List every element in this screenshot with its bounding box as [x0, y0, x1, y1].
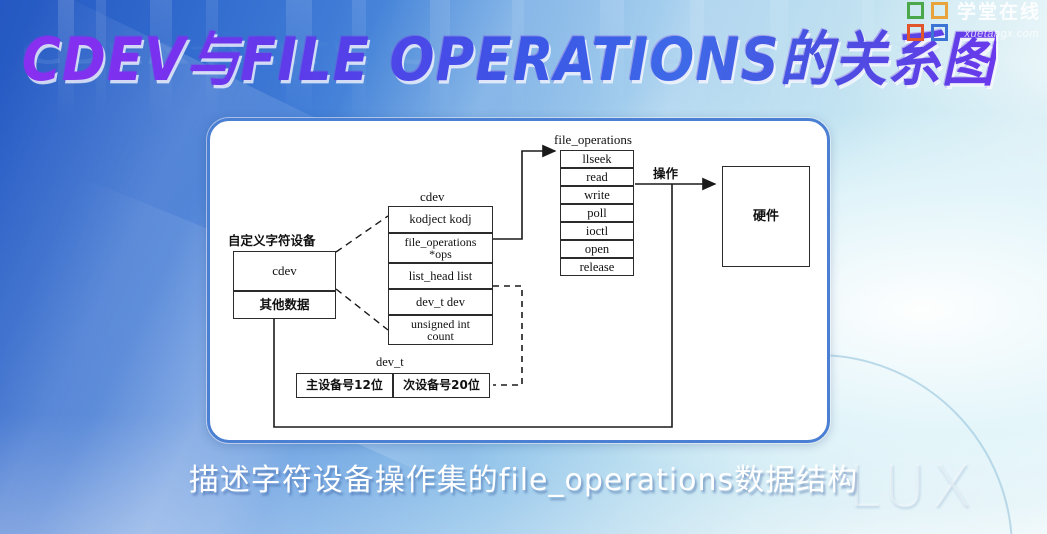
- dev-t-major: 主设备号12位: [296, 373, 393, 398]
- cdev-field-kobject: kodject kodj: [388, 206, 493, 233]
- fops-row-poll: poll: [560, 204, 634, 222]
- logo-subtext: xuetangx.com: [965, 28, 1039, 40]
- fops-row-llseek: llseek: [560, 150, 634, 168]
- fops-row-write: write: [560, 186, 634, 204]
- page-title: CDEV与FILE OPERATIONS的关系图: [22, 13, 996, 98]
- fops-row-read: read: [560, 168, 634, 186]
- fops-row-open: open: [560, 240, 634, 258]
- dev-t-minor: 次设备号20位: [393, 373, 490, 398]
- custom-device-caption: 自定义字符设备: [228, 230, 316, 249]
- fops-row-ioctl: ioctl: [560, 222, 634, 240]
- hardware-box: 硬件: [722, 166, 810, 267]
- operation-arrow-label: 操作: [653, 163, 678, 182]
- cdev-file-operations-diagram: 自定义字符设备 cdev 其他数据 cdev kodject kodj file…: [210, 121, 827, 440]
- file-operations-caption: file_operations: [554, 132, 632, 148]
- xuetangx-logo-icon: [907, 2, 951, 44]
- diagram-card: 自定义字符设备 cdev 其他数据 cdev kodject kodj file…: [207, 118, 830, 443]
- logo-text: 学堂在线: [957, 2, 1041, 24]
- slide-canvas: CDEV与FILE OPERATIONS的关系图 CDEV与FILE OPERA…: [0, 0, 1047, 534]
- custom-device-row-other-data: 其他数据: [233, 291, 336, 319]
- fops-row-release: release: [560, 258, 634, 276]
- cdev-field-count: unsigned int count: [388, 315, 493, 345]
- slide-subtitle: 描述字符设备操作集的file_operations数据结构: [0, 455, 1047, 499]
- cdev-field-ops: file_operations *ops: [388, 233, 493, 263]
- cdev-field-dev: dev_t dev: [388, 289, 493, 315]
- dev-t-caption: dev_t: [376, 355, 404, 370]
- cdev-field-list: list_head list: [388, 263, 493, 289]
- cdev-caption: cdev: [420, 189, 445, 205]
- custom-device-row-cdev: cdev: [233, 251, 336, 291]
- title-band: CDEV与FILE OPERATIONS的关系图 CDEV与FILE OPERA…: [0, 0, 1047, 100]
